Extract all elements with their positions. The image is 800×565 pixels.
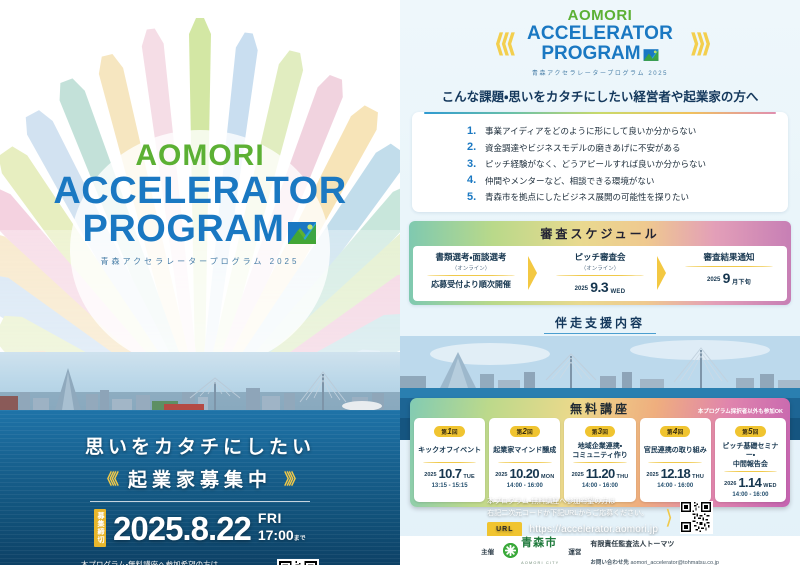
right-detail-panel: ⟨⟨⟨ AOMORI ACCELERATOR PROGRAM 青森アク (400, 0, 800, 565)
course-date: 2025 10.20 MON (491, 466, 558, 481)
aomori-city-seal-icon (503, 543, 518, 558)
pain-point-text: 青森市を拠点にしたビジネス展開の可能性を探りたい (485, 191, 689, 204)
qr-code[interactable] (680, 501, 713, 534)
right-apply-line2: 右記二次元コードか下記URLからご応募ください。 (487, 508, 658, 519)
brand-line-program: PROGRAM (83, 210, 318, 249)
deadline-row: 募集締切 2025.8.22 FRI 17:00まで (0, 509, 400, 547)
pain-points-card: 1. 事業アイディアをどのように形にして良いか分からない 2. 資金調達やビジネ… (412, 112, 788, 211)
free-courses-note: 本プログラム採択者以外も参加OK (698, 407, 783, 415)
schedule-step-date: 応募受付より順次開催 (415, 279, 527, 290)
course-divider (724, 471, 778, 472)
catchcopy-line1: 思いをカタチにしたい (0, 432, 400, 459)
pain-point-text: ピッチ経験がなく、どうアピールすれば良いか分からない (485, 158, 706, 171)
course-divider (498, 462, 552, 463)
schedule-step-online: （オンライン） (544, 264, 656, 272)
left-brand-logo: AOMORI ACCELERATOR PROGRAM 青森アクセラレータープログ… (0, 140, 400, 267)
schedule-step: 書類選考・面談選考 （オンライン） 応募受付より順次開催 (413, 246, 529, 301)
schedule-title: 審査スケジュール (409, 221, 791, 246)
pain-point-number: 4. (467, 174, 480, 187)
pain-point-number: 3. (467, 158, 480, 171)
course-divider (648, 462, 702, 463)
right-brand-program-text: PROGRAM (541, 44, 640, 64)
course-day: 1.14 (738, 475, 761, 490)
schedule-steps-row: 書類選考・面談選考 （オンライン） 応募受付より順次開催 ピッチ審査会 （オンラ… (413, 246, 787, 301)
left-catchcopy-block: 思いをカタチにしたい 《《 起業家募集中 》》 募集締切 2025.8.22 F… (0, 432, 400, 565)
course-session-badge: 第5回 (735, 426, 765, 437)
course-day: 11.20 (586, 466, 615, 481)
deadline-date: 2025.8.22 (113, 512, 251, 545)
course-weekday: THU (692, 474, 704, 480)
course-year: 2025 (646, 472, 658, 478)
course-time: 14:00 - 16:00 (642, 483, 709, 489)
host-name-en: AOMORI CITY (521, 561, 559, 565)
host-name-block: 青森市 AOMORI CITY (521, 533, 559, 565)
left-apply-block: 本プログラム・無料講座へ参加希望の方は 右記二次元コードか下記URLからご応募く… (0, 559, 400, 565)
divider-rule (90, 501, 310, 502)
schedule-step-heading: ピッチ審査会 (544, 251, 656, 263)
chevron-left-icon: 《《 (99, 468, 116, 489)
operator-label: 運営 (568, 546, 581, 556)
right-apply-line1: 本プログラム・無料講座へ参加希望の方は (487, 496, 658, 507)
schedule-step-date: 2025 9 月下旬 (673, 270, 785, 286)
course-session-badge: 第3回 (585, 426, 615, 437)
schedule-step-online: （オンライン） (415, 264, 527, 272)
schedule-step-year: 2025 (707, 277, 720, 283)
course-session-badge: 第1回 (434, 426, 464, 437)
course-time: 14:00 - 16:00 (491, 483, 558, 489)
schedule-divider (685, 266, 772, 267)
course-card[interactable]: 第3回 地域企業連携・コミュニティ作り 2025 11.20 THU 14:00… (564, 418, 635, 502)
schedule-step-heading: 書類選考・面談選考 (415, 251, 527, 263)
host-name: 青森市 (521, 537, 557, 549)
right-brand-line-program: PROGRAM (541, 44, 658, 64)
course-date: 2025 11.20 THU (566, 466, 633, 481)
support-title: 伴走支援内容 (544, 314, 656, 334)
course-weekday: TUE (463, 474, 475, 480)
schedule-section: 審査スケジュール 書類選考・面談選考 （オンライン） 応募受付より順次開催 ピッ… (409, 221, 791, 305)
course-session-badge: 第4回 (660, 426, 690, 437)
course-name: 起業家マインド醸成 (491, 442, 558, 460)
pain-point-number: 5. (467, 191, 480, 204)
right-brand-line-aomori: AOMORI (527, 8, 673, 24)
apply-line1: 本プログラム・無料講座へ参加希望の方は (81, 559, 254, 565)
right-header: ⟨⟨⟨ AOMORI ACCELERATOR PROGRAM 青森アク (400, 0, 800, 105)
host-label: 主催 (481, 546, 494, 556)
course-day: 10.7 (438, 466, 461, 481)
free-courses-cards: 第1回 キックオフイベント 2025 10.7 TUE 13:15 - 15:1… (414, 418, 786, 502)
arrow-separator-icon: ⟩ (665, 505, 673, 530)
course-name: キックオフイベント (416, 442, 483, 460)
catchcopy-line2-row: 《《 起業家募集中 》》 (0, 465, 400, 492)
course-year: 2026 (724, 481, 736, 487)
course-divider (423, 462, 477, 463)
course-card[interactable]: 第1回 キックオフイベント 2025 10.7 TUE 13:15 - 15:1… (414, 418, 485, 502)
deadline-time-suffix: まで (294, 536, 306, 542)
schedule-step-weekday: WED (610, 289, 625, 295)
schedule-step-suffix: 月下旬 (732, 280, 751, 286)
right-brand-line-accelerator: ACCELERATOR (527, 24, 673, 44)
course-weekday: THU (617, 474, 629, 480)
course-year: 2025 (424, 472, 436, 478)
list-item: 1. 事業アイディアをどのように形にして良いか分からない (467, 125, 778, 138)
course-day: 12.18 (661, 466, 691, 481)
course-date: 2025 10.7 TUE (416, 466, 483, 481)
course-card[interactable]: 第5回 ピッチ基礎セミナー・中間報告会 2026 1.14 WED 14:00 … (715, 418, 786, 502)
schedule-step-day: 9 (723, 270, 730, 286)
pain-point-text: 事業アイディアをどのように形にして良いか分からない (485, 125, 696, 138)
aomori-skyline-illustration (0, 352, 400, 414)
schedule-arrow-icon (658, 246, 671, 301)
schedule-divider (556, 275, 643, 276)
right-brand-logo: ⟨⟨⟨ AOMORI ACCELERATOR PROGRAM 青森アク (400, 8, 800, 77)
deadline-weekday-time: FRI 17:00まで (258, 511, 306, 545)
schedule-step-year: 2025 (575, 286, 588, 292)
course-weekday: MON (541, 474, 554, 480)
program-logo-mark-icon (287, 215, 317, 245)
flyer-page: AOMORI ACCELERATOR PROGRAM 青森アクセラレータープログ… (0, 0, 800, 565)
course-weekday: WED (763, 483, 776, 489)
list-item: 3. ピッチ経験がなく、どうアピールすれば良いか分からない (467, 158, 778, 171)
schedule-arrow-icon (529, 246, 542, 301)
course-time: 13:15 - 15:15 (416, 483, 483, 489)
pain-point-text: 仲間やメンターなど、相談できる環境がない (485, 174, 654, 187)
chevron-left-decoration-icon: ⟨⟨⟨ (493, 30, 511, 56)
apply-instructions: 本プログラム・無料講座へ参加希望の方は 右記二次元コードか下記URLからご応募く… (81, 559, 254, 565)
course-name: ピッチ基礎セミナー・中間報告会 (717, 442, 784, 469)
contact-label: お問い合わせ先 (590, 560, 629, 565)
operator-name: 有限責任監査法人トーマツ (590, 541, 674, 548)
deadline-time: 17:00 (258, 527, 294, 543)
brand-line-aomori: AOMORI (0, 140, 400, 172)
operator-block: 有限責任監査法人トーマツ お問い合わせ先 aomori_accelerator@… (590, 533, 718, 565)
right-headline: こんな課題・思いをカタチにしたい経営者や起業家の方へ (400, 86, 800, 105)
brand-line-accelerator: ACCELERATOR (0, 172, 400, 211)
qr-code[interactable] (277, 559, 319, 565)
course-time: 14:00 - 16:00 (566, 483, 633, 489)
schedule-divider (427, 275, 514, 276)
right-apply-instructions: 本プログラム・無料講座へ参加希望の方は 右記二次元コードか下記URLからご応募く… (487, 496, 658, 537)
footer-credits: 主催 青森市 AOMOR (400, 536, 800, 565)
course-divider (573, 462, 627, 463)
course-date: 2025 12.18 THU (642, 466, 709, 481)
schedule-step-heading: 審査結果通知 (673, 251, 785, 263)
schedule-step-day: 9.3 (590, 279, 608, 295)
brand-subtitle: 青森アクセラレータープログラム 2025 (0, 256, 400, 267)
list-item: 4. 仲間やメンターなど、相談できる環境がない (467, 174, 778, 187)
course-session-badge: 第2回 (510, 426, 540, 437)
host-logo: 青森市 AOMORI CITY (503, 533, 559, 565)
right-apply-block: 本プログラム・無料講座へ参加希望の方は 右記二次元コードか下記URLからご応募く… (400, 498, 800, 536)
brand-line-program-text: PROGRAM (83, 210, 285, 249)
course-year: 2025 (495, 472, 507, 478)
free-courses-title: 無料講座 (570, 400, 630, 417)
right-brand-text: AOMORI ACCELERATOR PROGRAM 青森アクセラレータープログ… (527, 8, 673, 77)
free-courses-header: 無料講座 本プログラム採択者以外も参加OK (414, 401, 786, 416)
list-item: 5. 青森市を拠点にしたビジネス展開の可能性を探りたい (467, 191, 778, 204)
chevron-right-icon: 》》 (284, 468, 301, 489)
schedule-step-date-text: 応募受付より順次開催 (431, 280, 511, 289)
course-date: 2026 1.14 WED (717, 475, 784, 490)
right-brand-subtitle: 青森アクセラレータープログラム 2025 (527, 68, 673, 77)
course-day: 10.20 (509, 466, 539, 481)
course-year: 2025 (572, 472, 584, 478)
deadline-weekday: FRI (258, 510, 282, 526)
schedule-step: 審査結果通知 2025 9 月下旬 (671, 246, 787, 301)
course-card[interactable]: 第2回 起業家マインド醸成 2025 10.20 MON 14:00 - 16:… (489, 418, 560, 502)
program-logo-mark-icon (643, 46, 659, 62)
course-name: 官民連携の取り組み (642, 442, 709, 460)
course-card[interactable]: 第4回 官民連携の取り組み 2025 12.18 THU 14:00 - 16:… (640, 418, 711, 502)
deadline-badge: 募集締切 (94, 509, 106, 547)
contact-email[interactable]: aomori_accelerator@tohmatsu.co.jp (630, 560, 718, 565)
chevron-right-decoration-icon: ⟩⟩⟩ (689, 30, 707, 56)
free-courses-section: 無料講座 本プログラム採択者以外も参加OK 第1回 キックオフイベント 2025… (410, 398, 790, 507)
pain-point-number: 1. (467, 125, 480, 138)
schedule-step: ピッチ審査会 （オンライン） 2025 9.3 WED (542, 246, 658, 301)
catchcopy-line2: 起業家募集中 (128, 465, 272, 492)
schedule-step-date: 2025 9.3 WED (544, 279, 656, 295)
course-name: 地域企業連携・コミュニティ作り (566, 442, 633, 460)
list-item: 2. 資金調達やビジネスモデルの磨きあげに不安がある (467, 141, 778, 154)
pain-point-number: 2. (467, 141, 480, 154)
pain-point-text: 資金調達やビジネスモデルの磨きあげに不安がある (485, 141, 681, 154)
left-poster-panel: AOMORI ACCELERATOR PROGRAM 青森アクセラレータープログ… (0, 0, 400, 565)
